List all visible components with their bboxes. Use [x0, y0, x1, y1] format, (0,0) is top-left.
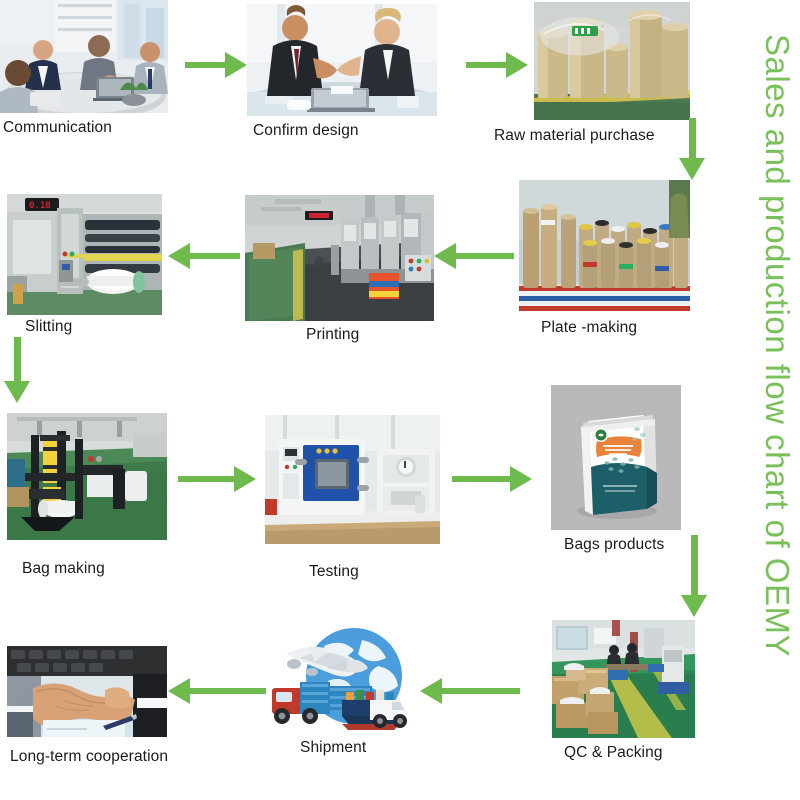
step-confirm-design: Confirm design — [247, 4, 437, 116]
caption-qc-packing: QC & Packing — [564, 745, 663, 761]
svg-text:0.18: 0.18 — [29, 201, 51, 211]
handshake-deal-photo — [247, 4, 437, 116]
arrow-raw-material-to-plate-making — [679, 118, 705, 180]
film-rolls-warehouse-photo — [534, 2, 690, 120]
global-logistics-photo — [266, 620, 412, 738]
step-slitting: 0.18 — [7, 194, 162, 315]
caption-testing: Testing — [309, 564, 359, 580]
caption-plate-making: Plate -making — [541, 320, 637, 336]
arrow-slitting-to-bag-making — [4, 337, 30, 403]
chart-vertical-title: Sales and production flow chart of OEMY — [758, 34, 796, 657]
arrow-testing-to-bags-products — [452, 466, 532, 492]
arrow-plate-making-to-printing — [434, 243, 514, 269]
step-shipment: Shipment — [266, 620, 412, 738]
caption-bags-products: Bags products — [564, 537, 664, 553]
arrow-bags-products-to-qc-packing — [681, 535, 707, 617]
slitting-machine-photo: 0.18 — [7, 194, 162, 315]
arrow-confirm-design-to-raw-material — [466, 52, 528, 78]
stand-up-pouch-photo — [551, 385, 681, 530]
caption-confirm-design: Confirm design — [253, 123, 359, 139]
step-plate-making: Plate -making — [519, 180, 690, 311]
caption-raw-material-purchase: Raw material purchase — [494, 128, 655, 144]
step-bags-products: Bags products — [551, 385, 681, 530]
caption-slitting: Slitting — [25, 319, 72, 335]
step-bag-making: Bag making — [7, 413, 167, 540]
arrow-shipment-to-long-term-cooperation — [168, 678, 268, 704]
printing-press-hall-photo — [245, 195, 434, 321]
step-long-term-cooperation: Long-term cooperation — [7, 646, 167, 737]
flow-chart-canvas: Communication — [0, 0, 800, 800]
caption-printing: Printing — [306, 327, 359, 343]
handshake-contract-photo — [7, 646, 167, 737]
caption-long-term-cooperation: Long-term cooperation — [10, 749, 168, 765]
caption-bag-making: Bag making — [22, 561, 105, 577]
cylinder-plates-photo — [519, 180, 690, 311]
caption-shipment: Shipment — [300, 740, 366, 756]
arrow-communication-to-confirm-design — [185, 52, 247, 78]
step-printing: Printing — [245, 195, 434, 321]
meeting-room-photo — [0, 0, 168, 113]
caption-communication: Communication — [3, 120, 112, 136]
arrow-bag-making-to-testing — [178, 466, 256, 492]
testing-oven-photo — [265, 415, 440, 544]
arrow-printing-to-slitting — [168, 243, 240, 269]
step-qc-packing: QC & Packing — [552, 620, 695, 738]
bag-making-machine-photo — [7, 413, 167, 540]
step-testing: Testing — [265, 415, 440, 544]
step-communication: Communication — [0, 0, 168, 113]
packing-workshop-photo — [552, 620, 695, 738]
step-raw-material-purchase: Raw material purchase — [534, 2, 690, 120]
arrow-qc-packing-to-shipment — [420, 678, 520, 704]
